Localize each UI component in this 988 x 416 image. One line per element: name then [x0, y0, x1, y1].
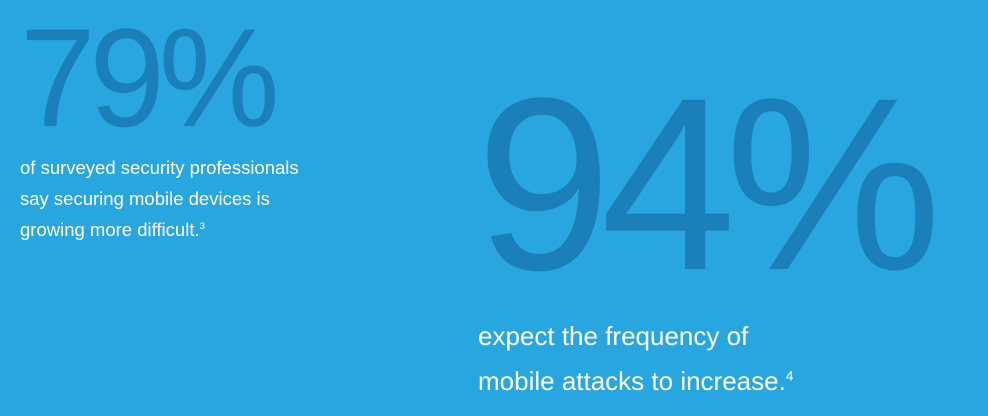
stat-caption-mobile-security-difficulty: of surveyed security professionals say s…: [20, 152, 380, 245]
stat-figure-79-percent: 79%: [20, 8, 425, 148]
caption-line-text: growing more difficult.: [20, 219, 200, 240]
caption-line: growing more difficult.3: [20, 214, 380, 245]
stat-block-mobile-security-difficulty: 79% of surveyed security professionals s…: [18, 8, 438, 245]
stat-figure-94-percent: 94%: [476, 62, 985, 308]
caption-line-text: mobile attacks to increase.: [478, 366, 786, 396]
stat-caption-mobile-attack-frequency: expect the frequency of mobile attacks t…: [478, 314, 948, 404]
stat-block-mobile-attack-frequency: 94% expect the frequency of mobile attac…: [470, 62, 988, 404]
caption-line: say securing mobile devices is: [20, 183, 380, 214]
caption-line: of surveyed security professionals: [20, 152, 380, 183]
caption-line: mobile attacks to increase.4: [478, 359, 948, 404]
infographic-canvas: 79% of surveyed security professionals s…: [0, 0, 988, 416]
footnote-ref-4: 4: [786, 368, 794, 383]
footnote-ref-3: 3: [200, 221, 205, 232]
